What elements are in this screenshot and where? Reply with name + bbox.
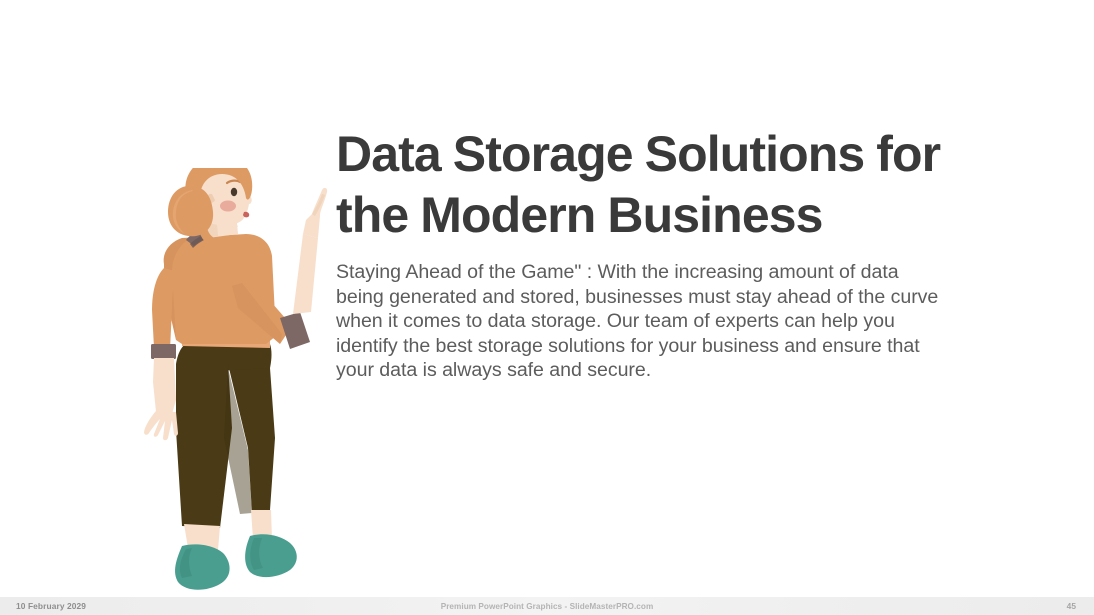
eye bbox=[231, 188, 237, 196]
left-forearm bbox=[153, 358, 176, 414]
right-cuff bbox=[280, 312, 310, 349]
pants-front-leg bbox=[176, 364, 232, 528]
slide-footer: 10 February 2029 Premium PowerPoint Grap… bbox=[0, 597, 1094, 615]
left-cuff bbox=[151, 344, 176, 359]
slide-content: Data Storage Solutions for the Modern Bu… bbox=[336, 124, 942, 383]
footer-page-number: 45 bbox=[1067, 601, 1076, 611]
body-paragraph: Staying Ahead of the Game" : With the in… bbox=[336, 260, 942, 383]
presentation-slide: Data Storage Solutions for the Modern Bu… bbox=[0, 0, 1094, 615]
page-title: Data Storage Solutions for the Modern Bu… bbox=[336, 124, 942, 246]
blush bbox=[220, 201, 236, 212]
footer-branding: Premium PowerPoint Graphics - SlideMaste… bbox=[0, 602, 1094, 611]
woman-pointing-up-illustration bbox=[120, 168, 340, 608]
left-hand bbox=[144, 411, 178, 440]
right-forearm bbox=[293, 234, 318, 314]
